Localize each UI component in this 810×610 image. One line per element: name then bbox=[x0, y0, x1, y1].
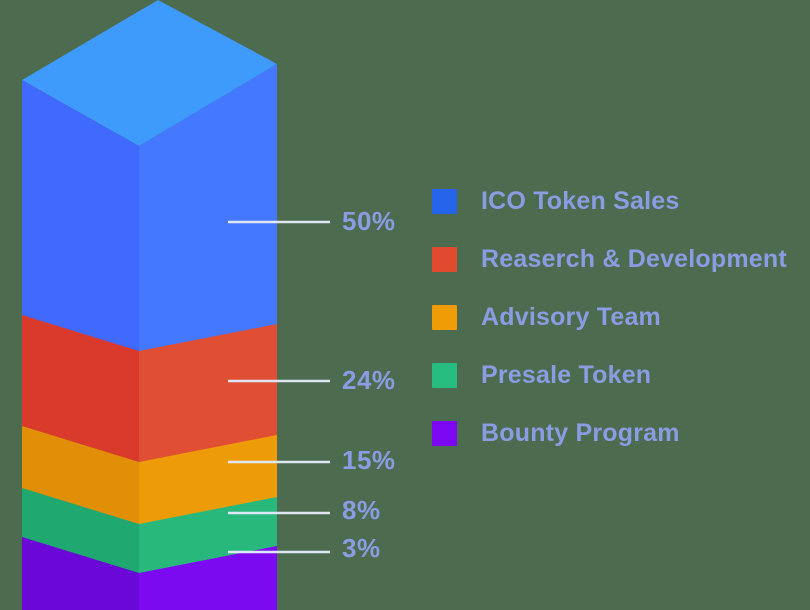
legend-label-research-development: Reaserch & Development bbox=[481, 247, 787, 272]
legend-item-ico-token-sales[interactable]: ICO Token Sales bbox=[432, 172, 802, 230]
callout-label-advisory-team: 15% bbox=[342, 447, 396, 473]
callout-label-bounty-program: 3% bbox=[342, 535, 381, 561]
segment-ico-token-sales bbox=[22, 0, 277, 351]
chart-legend: ICO Token Sales Reaserch & Development A… bbox=[432, 172, 802, 462]
legend-item-advisory-team[interactable]: Advisory Team bbox=[432, 288, 802, 346]
legend-label-presale-token: Presale Token bbox=[481, 363, 651, 388]
chart-canvas: 50% 24% 15% 8% 3% ICO Token Sales Reaser… bbox=[0, 0, 810, 610]
callout-label-ico-token-sales: 50% bbox=[342, 208, 396, 234]
legend-label-advisory-team: Advisory Team bbox=[481, 305, 661, 330]
legend-item-research-development[interactable]: Reaserch & Development bbox=[432, 230, 802, 288]
legend-swatch-icon-research-development bbox=[432, 247, 457, 272]
legend-swatch-icon-presale-token bbox=[432, 363, 457, 388]
legend-swatch-icon-ico-token-sales bbox=[432, 189, 457, 214]
legend-label-ico-token-sales: ICO Token Sales bbox=[481, 189, 679, 214]
legend-swatch-icon-advisory-team bbox=[432, 305, 457, 330]
legend-label-bounty-program: Bounty Program bbox=[481, 421, 680, 446]
legend-item-bounty-program[interactable]: Bounty Program bbox=[432, 404, 802, 462]
callout-label-research-development: 24% bbox=[342, 367, 396, 393]
legend-item-presale-token[interactable]: Presale Token bbox=[432, 346, 802, 404]
callout-label-presale-token: 8% bbox=[342, 497, 381, 523]
legend-swatch-icon-bounty-program bbox=[432, 421, 457, 446]
